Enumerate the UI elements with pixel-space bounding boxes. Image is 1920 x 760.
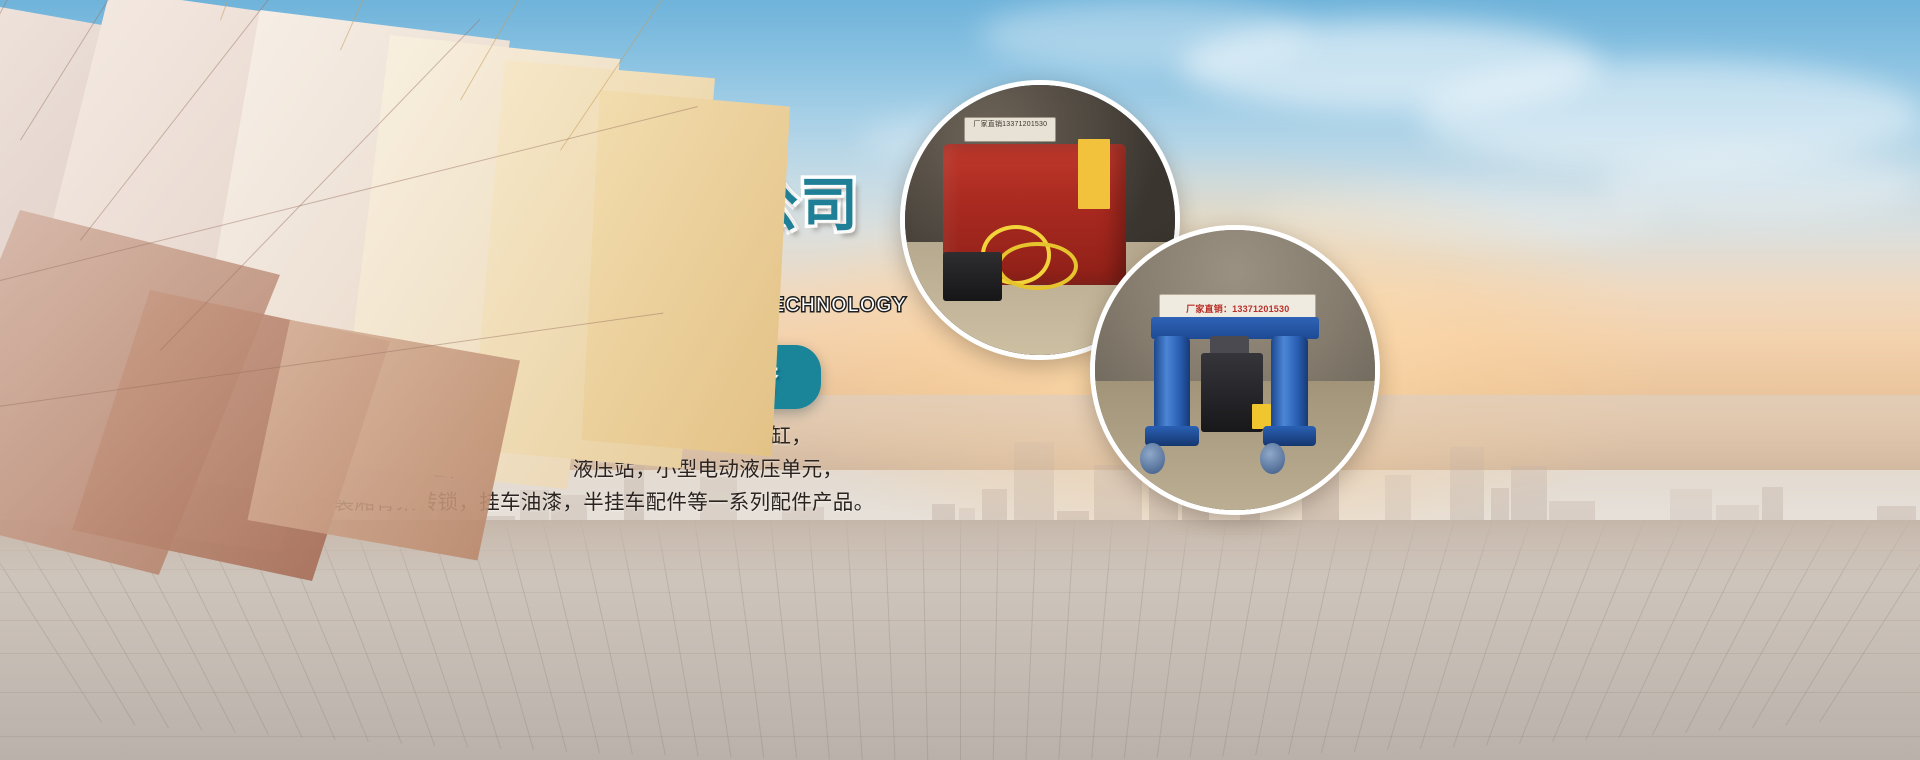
caster-wheel-left [1140, 443, 1165, 474]
sculpture-panel [247, 320, 520, 561]
yellow-hose [997, 242, 1078, 291]
red-machine-plate: 厂家直销13371201530 [964, 117, 1056, 141]
warning-label [1078, 139, 1110, 209]
hydraulic-cylinder-left [1154, 336, 1190, 431]
sculpture-panel [582, 90, 790, 457]
caster-wheel-right [1260, 443, 1285, 474]
blue-support-leg-photo: 厂家直销：13371201530 [1090, 225, 1380, 515]
hero-banner: 厂家直销13371201530 厂家直销：13371201530 梁山转运液压配… [0, 0, 1920, 760]
hydraulic-cylinder-right [1271, 336, 1307, 431]
cloud-shape [980, 0, 1310, 70]
yellow-tag [1252, 404, 1272, 429]
